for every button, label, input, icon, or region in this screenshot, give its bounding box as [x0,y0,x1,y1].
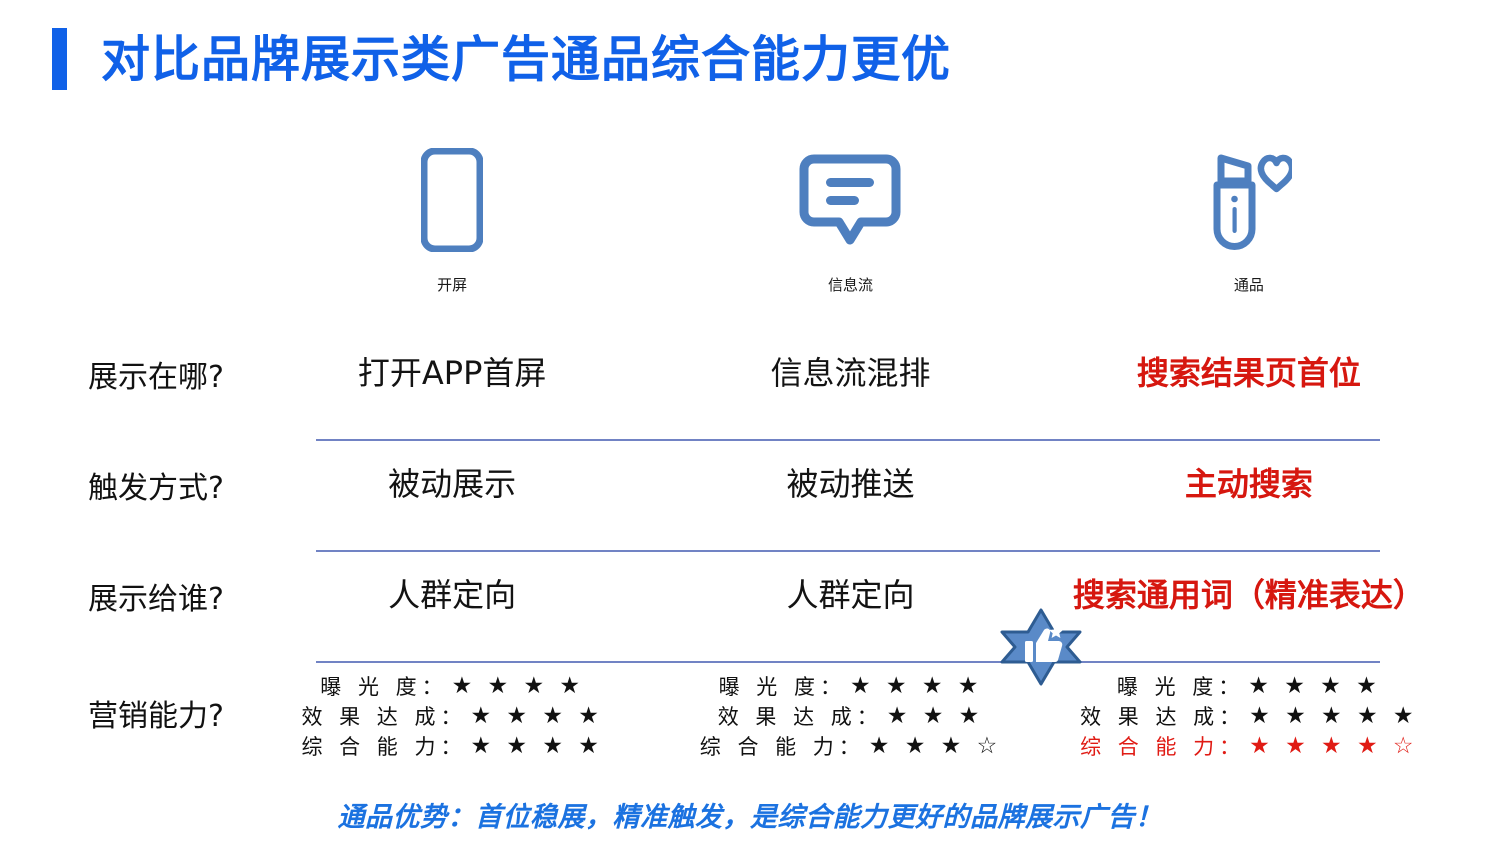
thumbs-up-star-badge-icon [997,608,1085,686]
rating-colon: ： [440,701,461,731]
rating-colon: ： [857,701,878,731]
rating-colon: ： [1218,671,1239,701]
table-cell-highlight: 搜索通用词（精准表达） [1050,552,1448,616]
rating-stars: ★ ★ ★ ★ ☆ [1249,735,1417,758]
rating-stars: ★ ★ ★ ★ [470,735,602,758]
rating-stars: ★ ★ ★ ★ [1248,675,1380,698]
cell-text: 搜索通用词（精准表达） [1073,570,1425,616]
channel-label: 通品 [1234,274,1264,295]
cell-text: 被动展示 [388,459,516,505]
rating-stars: ★ ★ ★ [887,705,983,728]
table-cell: 人群定向 [651,552,1049,616]
rating-name: 曝 光 度 [1117,671,1218,701]
cell-text: 主动搜索 [1185,459,1313,505]
rating-name: 综 合 能 力 [1080,731,1219,761]
rating-colon: ： [839,731,860,761]
rating-line: 效 果 达 成 ： ★ ★ ★ ★ ★ [1080,701,1417,731]
rating-colon: ： [1219,701,1240,731]
rating-line: 效 果 达 成 ： ★ ★ ★ [718,701,984,731]
cell-text: 人群定向 [388,570,516,616]
rating-stars: ★ ★ ★ ★ [850,675,982,698]
rating-name: 效 果 达 成 [301,701,440,731]
rating-stars: ★ ★ ★ ★ [452,675,584,698]
rating-stars: ★ ★ ★ ★ ★ [1249,705,1417,728]
rating-name: 综 合 能 力 [700,731,839,761]
rating-column-tongpin: 曝 光 度 ： ★ ★ ★ ★ 效 果 达 成 ： ★ ★ ★ ★ ★ 综 合 … [1050,663,1448,761]
rating-name: 曝 光 度 [320,671,421,701]
rating-column-kaiping: 曝 光 度 ： ★ ★ ★ ★ 效 果 达 成 ： ★ ★ ★ ★ 综 合 能 … [253,663,651,761]
rating-name: 综 合 能 力 [301,731,440,761]
table-cell: 打开APP首屏 [253,330,651,394]
rating-name: 效 果 达 成 [1080,701,1219,731]
cell-text: 打开APP首屏 [358,348,547,394]
page-header: 对比品牌展示类广告通品综合能力更优 [52,28,951,90]
rating-stars: ★ ★ ★ ★ [470,705,602,728]
comparison-table: 展示在哪? 打开APP首屏 信息流混排 搜索结果页首位 触发方式? 被动展示 被… [0,330,1500,778]
channel-column-tongpin: 通品 [1050,140,1448,295]
table-row: 触发方式? 被动展示 被动推送 主动搜索 [0,441,1500,552]
table-row: 展示给谁? 人群定向 人群定向 搜索通用词（精准表达） [0,552,1500,663]
table-cell: 信息流混排 [651,330,1049,394]
rating-column-xinxiliu: 曝 光 度 ： ★ ★ ★ ★ 效 果 达 成 ： ★ ★ ★ 综 合 能 力 … [651,663,1049,761]
rating-line: 综 合 能 力 ： ★ ★ ★ ★ [301,731,602,761]
cell-text: 人群定向 [786,570,914,616]
cell-text: 搜索结果页首位 [1137,348,1361,394]
rating-line: 曝 光 度 ： ★ ★ ★ ★ [1117,671,1381,701]
cell-text: 被动推送 [786,459,914,505]
cell-text: 信息流混排 [770,348,930,394]
rating-stars: ★ ★ ★ ☆ [869,735,1001,758]
rating-name: 效 果 达 成 [718,701,857,731]
table-cell-highlight: 主动搜索 [1050,441,1448,505]
rating-colon: ： [440,731,461,761]
footer-note: 通品优势：首位稳展，精准触发，是综合能力更好的品牌展示广告！ [0,795,1500,834]
channel-column-xinxiliu: 信息流 [651,140,1049,295]
table-cell: 被动推送 [651,441,1049,505]
rating-line: 曝 光 度 ： ★ ★ ★ ★ [719,671,983,701]
rating-name: 曝 光 度 [719,671,820,701]
channel-label: 开屏 [437,274,467,295]
channel-header: 开屏 信息流 通品 [253,140,1448,295]
table-cell: 被动展示 [253,441,651,505]
rating-line: 曝 光 度 ： ★ ★ ★ ★ [320,671,584,701]
table-cell: 人群定向 [253,552,651,616]
title-accent-bar [52,28,67,90]
speech-bubble-icon [799,140,901,260]
table-row-ratings: 营销能力? 曝 光 度 ： ★ ★ ★ ★ 效 果 达 成 ： ★ ★ ★ ★ … [0,663,1500,778]
channel-label: 信息流 [828,274,873,295]
lipstick-heart-icon [1206,140,1292,260]
rating-line-highlight: 综 合 能 力 ： ★ ★ ★ ★ ☆ [1080,731,1417,761]
rating-colon: ： [820,671,841,701]
rating-line: 综 合 能 力 ： ★ ★ ★ ☆ [700,731,1001,761]
rating-line: 效 果 达 成 ： ★ ★ ★ ★ [301,701,602,731]
page-title: 对比品牌展示类广告通品综合能力更优 [101,35,951,84]
table-cell-highlight: 搜索结果页首位 [1050,330,1448,394]
rating-colon: ： [422,671,443,701]
table-row: 展示在哪? 打开APP首屏 信息流混排 搜索结果页首位 [0,330,1500,441]
channel-column-kaiping: 开屏 [253,140,651,295]
rating-colon: ： [1219,731,1240,761]
smartphone-icon [421,140,483,260]
